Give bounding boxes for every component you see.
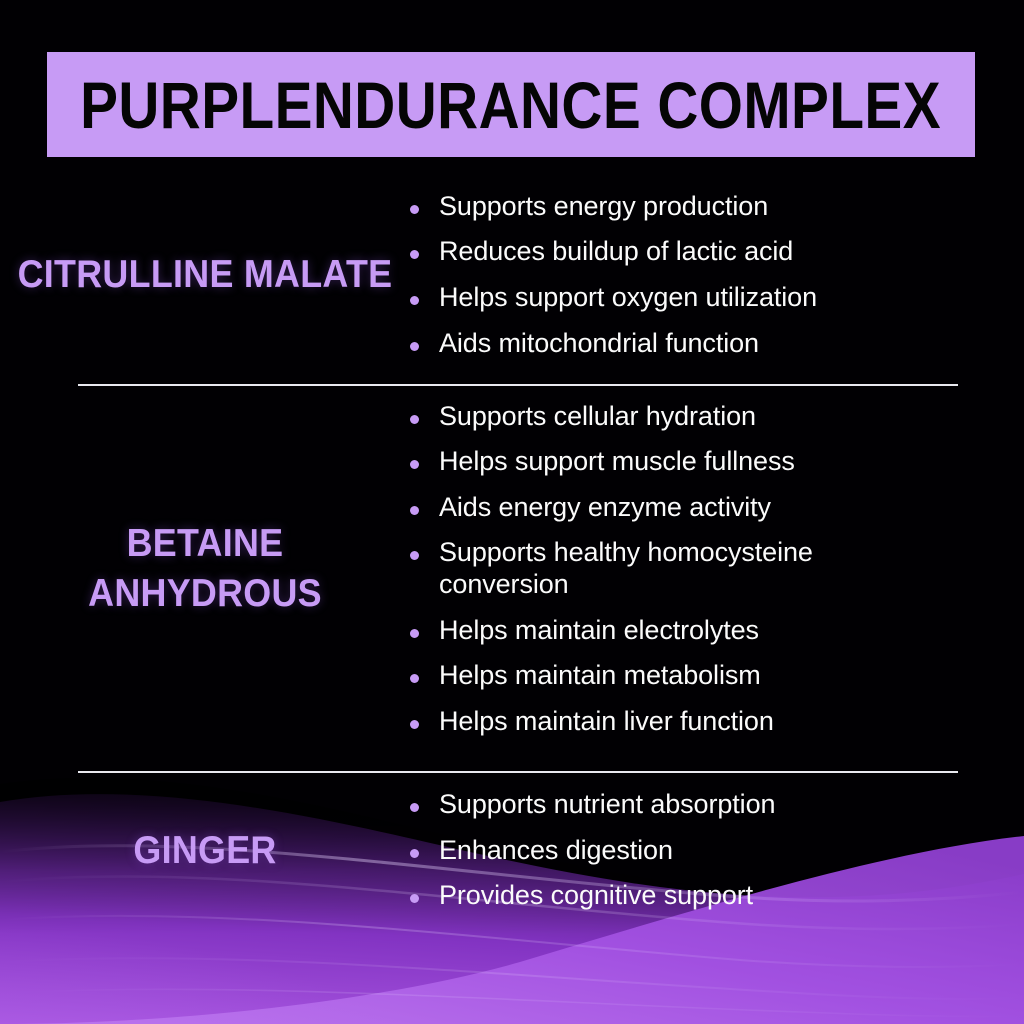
benefit-text: Helps support muscle fullness — [439, 446, 795, 478]
ingredient-name: BETAINE ANHYDROUS — [16, 519, 393, 619]
bullet-dot-icon — [410, 849, 419, 858]
bullet-dot-icon — [410, 415, 419, 424]
list-item: Aids mitochondrial function — [410, 328, 968, 360]
list-item: Enhances digestion — [410, 835, 968, 867]
benefit-text: Reduces buildup of lactic acid — [439, 236, 793, 268]
bullet-dot-icon — [410, 894, 419, 903]
benefit-text: Enhances digestion — [439, 835, 673, 867]
benefit-text: Supports energy production — [439, 191, 768, 223]
benefit-text: Aids energy enzyme activity — [439, 492, 771, 524]
bullet-dot-icon — [410, 250, 419, 259]
bullet-dot-icon — [410, 506, 419, 515]
bullet-dot-icon — [410, 803, 419, 812]
list-item: Supports nutrient absorption — [410, 789, 968, 821]
bullet-dot-icon — [410, 460, 419, 469]
benefit-text: Helps support oxygen utilization — [439, 282, 817, 314]
benefit-text: Aids mitochondrial function — [439, 328, 759, 360]
bullet-dot-icon — [410, 720, 419, 729]
list-item: Helps support muscle fullness — [410, 446, 968, 478]
benefit-text: Helps maintain metabolism — [439, 660, 761, 692]
ingredient-name: CITRULLINE MALATE — [16, 250, 393, 300]
page-title: PURPLENDURANCE COMPLEX — [81, 72, 942, 138]
benefit-list: Supports energy production Reduces build… — [410, 191, 1024, 359]
list-item: Helps maintain liver function — [410, 706, 968, 738]
section-divider — [78, 384, 958, 386]
bullet-dot-icon — [410, 296, 419, 305]
list-item: Supports cellular hydration — [410, 401, 968, 433]
section-divider — [78, 771, 958, 773]
list-item: Reduces buildup of lactic acid — [410, 236, 968, 268]
list-item: Aids energy enzyme activity — [410, 492, 968, 524]
list-item: Supports healthy homocysteine conversion — [410, 537, 968, 600]
list-item: Helps support oxygen utilization — [410, 282, 968, 314]
bullet-dot-icon — [410, 629, 419, 638]
ingredient-sections: CITRULLINE MALATE Supports energy produc… — [0, 175, 1024, 938]
ingredient-section: BETAINE ANHYDROUS Supports cellular hydr… — [0, 375, 1024, 763]
benefit-text: Helps maintain liver function — [439, 706, 774, 738]
benefit-list: Supports cellular hydration Helps suppor… — [410, 401, 1024, 738]
list-item: Helps maintain electrolytes — [410, 615, 968, 647]
list-item: Helps maintain metabolism — [410, 660, 968, 692]
benefit-text: Supports cellular hydration — [439, 401, 756, 433]
bullet-dot-icon — [410, 342, 419, 351]
list-item: Provides cognitive support — [410, 880, 968, 912]
product-title-banner: PURPLENDURANCE COMPLEX — [47, 52, 975, 157]
ingredient-section: GINGER Supports nutrient absorption Enha… — [0, 763, 1024, 938]
benefit-text: Provides cognitive support — [439, 880, 753, 912]
bullet-dot-icon — [410, 551, 419, 560]
supplement-ingredient-panel: PURPLENDURANCE COMPLEX CITRULLINE MALATE… — [0, 0, 1024, 1024]
bullet-dot-icon — [410, 674, 419, 683]
bullet-dot-icon — [410, 205, 419, 214]
ingredient-section: CITRULLINE MALATE Supports energy produc… — [0, 175, 1024, 375]
benefit-text: Helps maintain electrolytes — [439, 615, 759, 647]
ingredient-name: GINGER — [16, 826, 393, 876]
benefit-text: Supports nutrient absorption — [439, 789, 775, 821]
list-item: Supports energy production — [410, 191, 968, 223]
benefit-list: Supports nutrient absorption Enhances di… — [410, 789, 1024, 912]
benefit-text: Supports healthy homocysteine conversion — [439, 537, 909, 600]
